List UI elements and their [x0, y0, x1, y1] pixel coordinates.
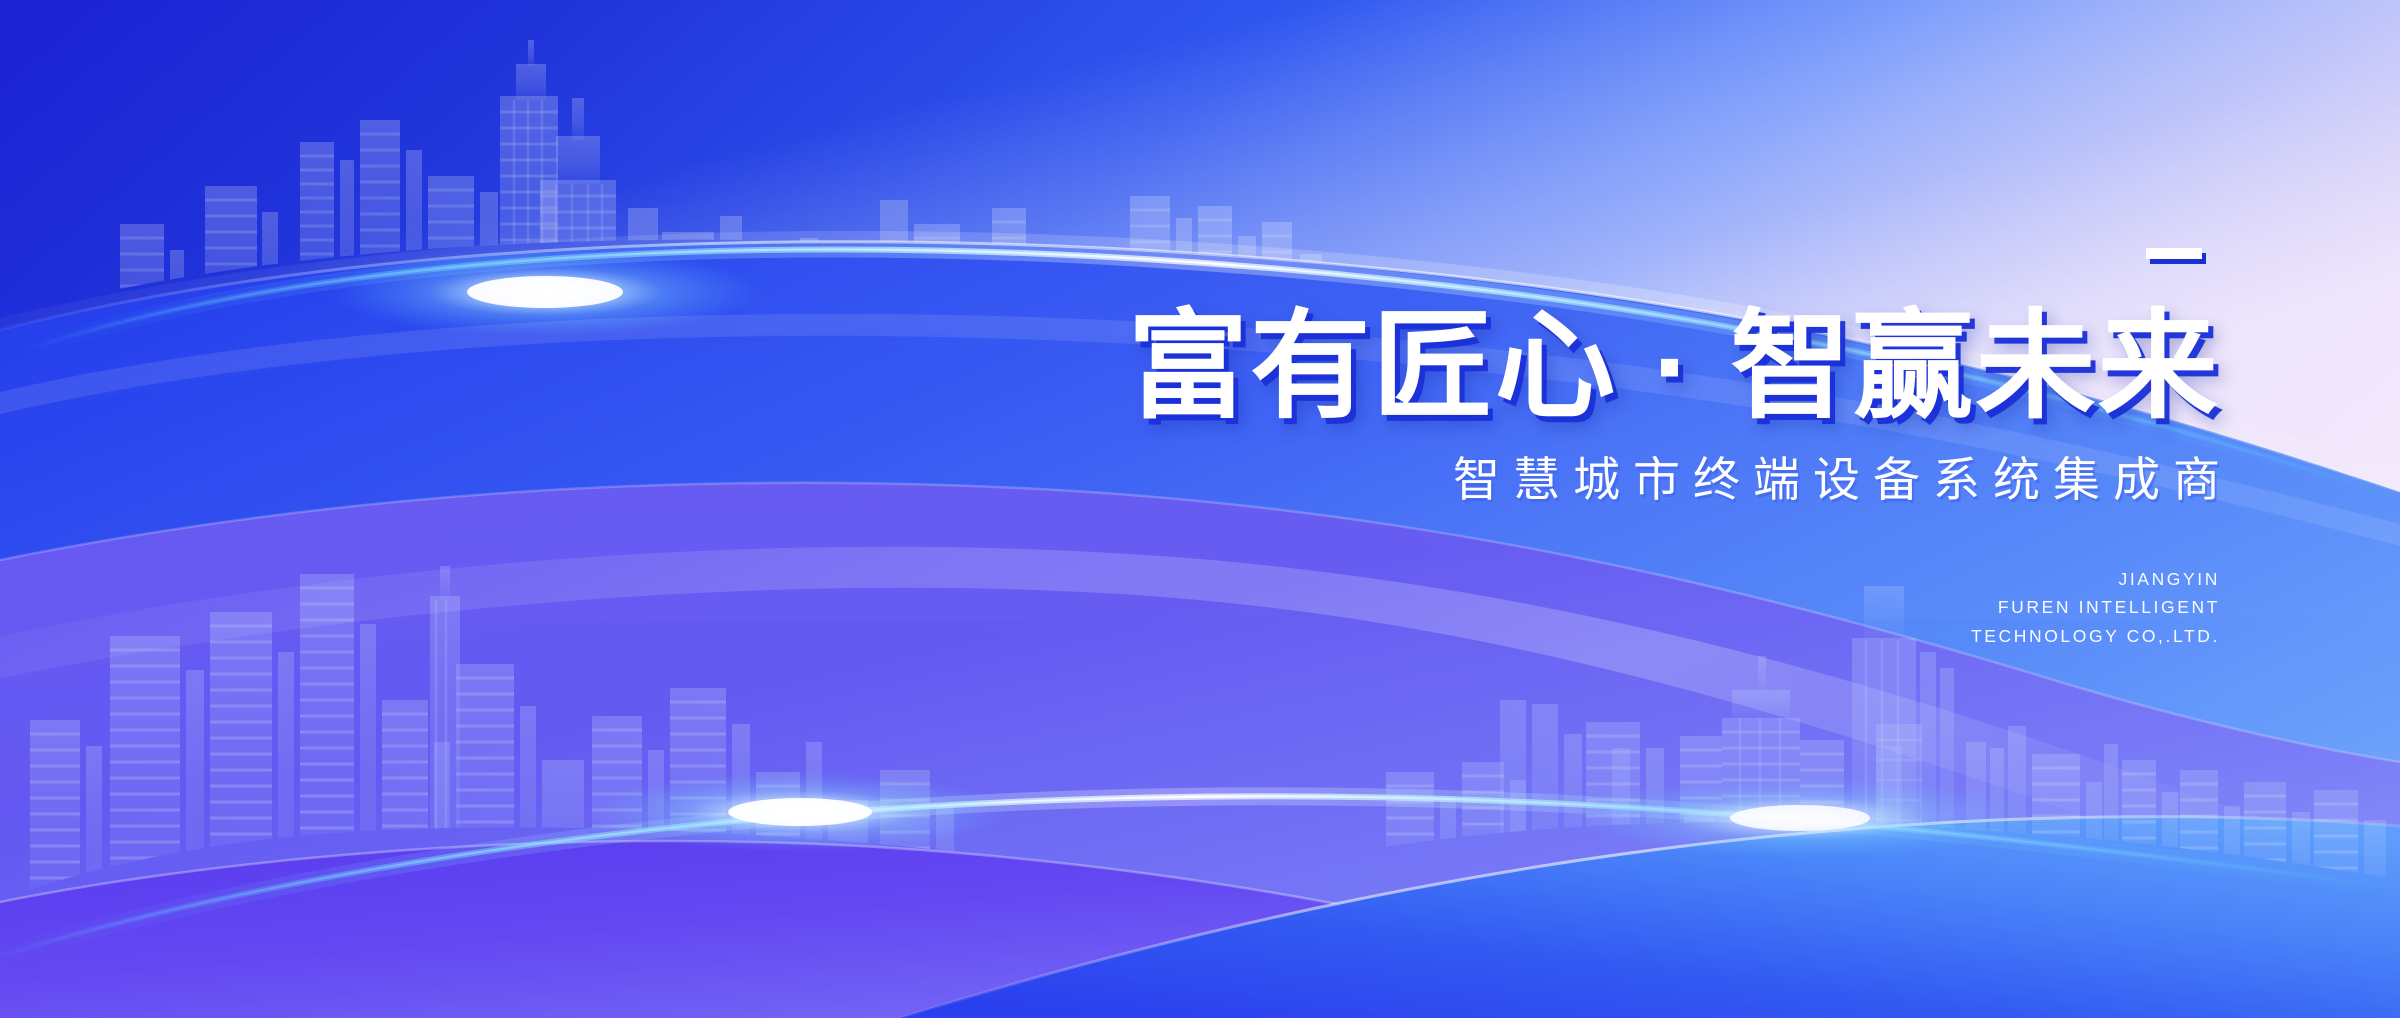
- company-name-line-3: TECHNOLOGY CO,.LTD.: [1040, 622, 2220, 650]
- subtitle: 智慧城市终端设备系统集成商: [1040, 456, 2233, 503]
- company-name-line-1: JIANGYIN: [1040, 565, 2220, 593]
- company-name: JIANGYIN FUREN INTELLIGENT TECHNOLOGY CO…: [1040, 565, 2220, 650]
- banner-poster: 富有匠心 · 智赢未来 智慧城市终端设备系统集成商 JIANGYIN FUREN…: [0, 0, 2400, 1018]
- headline-block: 富有匠心 · 智赢未来 智慧城市终端设备系统集成商 JIANGYIN FUREN…: [1040, 248, 2220, 650]
- company-name-line-2: FUREN INTELLIGENT: [1040, 593, 2220, 621]
- accent-dash-icon: [2146, 248, 2202, 259]
- page-title: 富有匠心 · 智赢未来: [1016, 308, 2220, 426]
